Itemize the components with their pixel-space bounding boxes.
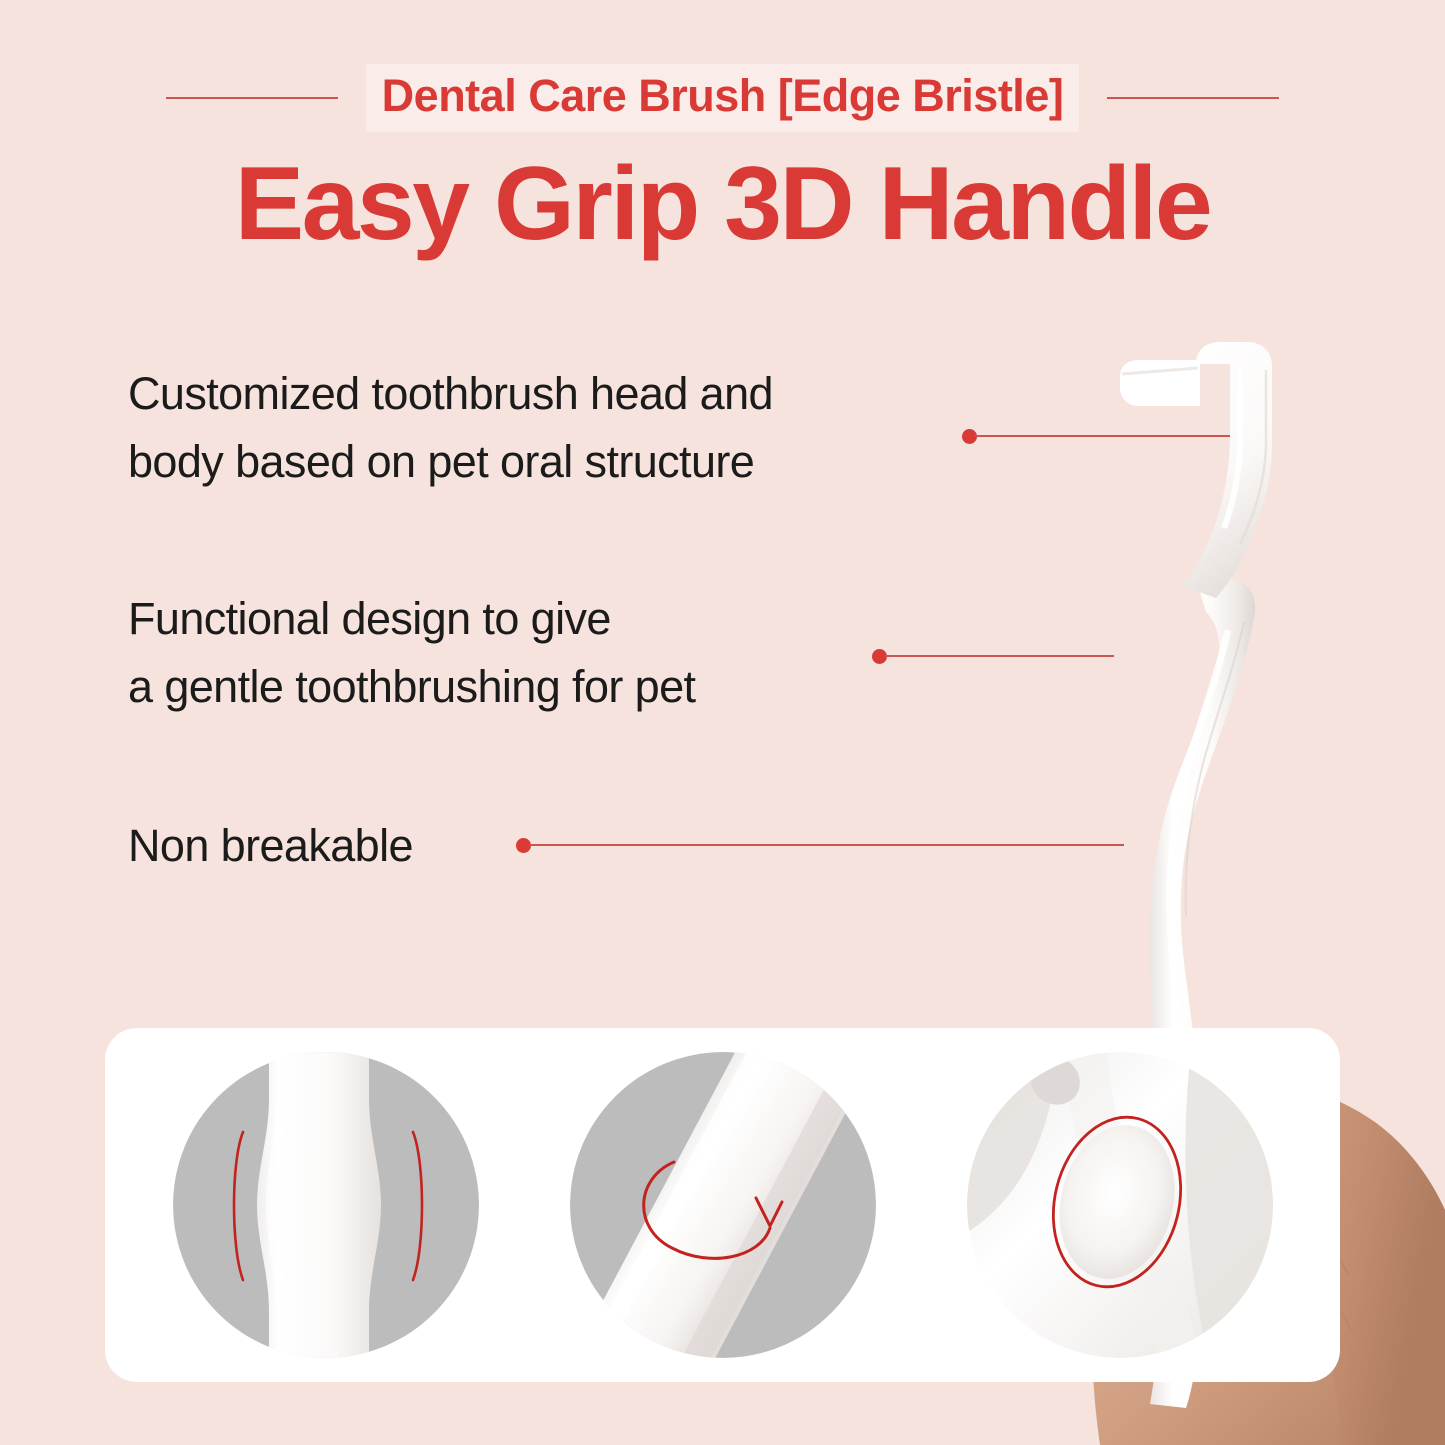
detail-circle-thumb-rest bbox=[967, 1052, 1273, 1358]
feature-text-functional-design: Functional design to give a gentle tooth… bbox=[128, 585, 695, 722]
eyebrow-label: Dental Care Brush [Edge Bristle] bbox=[366, 64, 1080, 131]
handle-contour-detail-icon bbox=[173, 1052, 479, 1358]
bristle-pad-icon bbox=[1120, 360, 1200, 406]
feature-text-non-breakable: Non breakable bbox=[128, 812, 413, 880]
toothbrush-head bbox=[1120, 342, 1272, 598]
infographic-canvas: Dental Care Brush [Edge Bristle] Easy Gr… bbox=[0, 0, 1445, 1445]
feature-text-customized-head: Customized toothbrush head and body base… bbox=[128, 360, 773, 497]
eyebrow-row: Dental Care Brush [Edge Bristle] bbox=[0, 66, 1445, 130]
detail-circle-grip-rotation bbox=[570, 1052, 876, 1358]
detail-circle-waisted-handle bbox=[173, 1052, 479, 1358]
detail-card bbox=[105, 1028, 1340, 1382]
page-title: Easy Grip 3D Handle bbox=[0, 148, 1445, 260]
eyebrow-right-rule bbox=[1107, 97, 1279, 99]
eyebrow-left-rule bbox=[166, 97, 338, 99]
handle-grip-rotation-icon bbox=[570, 1052, 876, 1358]
thumb-rest-detail-icon bbox=[967, 1052, 1273, 1358]
